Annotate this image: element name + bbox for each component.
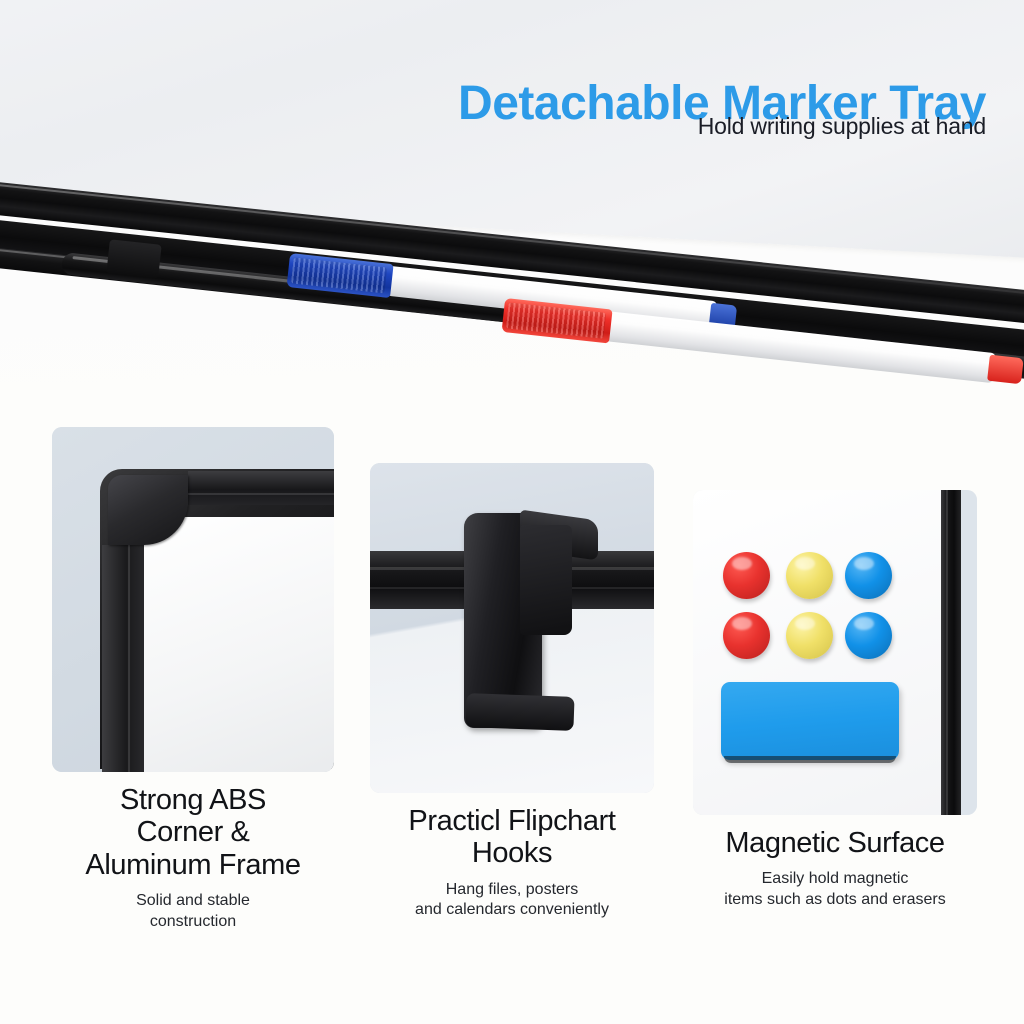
frame-rail-horizontal bbox=[188, 471, 334, 505]
feature-title-line: Corner & bbox=[52, 816, 334, 848]
feature-title-line: Practicl Flipchart bbox=[370, 805, 654, 837]
feature-subtitle-line: Hang files, posters bbox=[370, 880, 654, 900]
feature-subtitle: Easily hold magnetic items such as dots … bbox=[693, 869, 977, 910]
feature-title-line: Strong ABS bbox=[52, 784, 334, 816]
feature-title-line: Hooks bbox=[370, 837, 654, 869]
flipchart-hook-face bbox=[520, 525, 572, 635]
magnetic-eraser bbox=[721, 682, 899, 760]
feature-title: Practicl Flipchart Hooks bbox=[370, 805, 654, 870]
feature-flipchart-hooks: Practicl Flipchart Hooks Hang files, pos… bbox=[370, 463, 654, 921]
magnet-dot-blue bbox=[845, 552, 892, 599]
feature-subtitle-line: Easily hold magnetic bbox=[693, 869, 977, 889]
magnet-dot-red bbox=[723, 612, 770, 659]
feature-title: Strong ABS Corner & Aluminum Frame bbox=[52, 784, 334, 881]
figure-abs-corner bbox=[52, 427, 334, 772]
flipchart-hook-base bbox=[465, 693, 574, 731]
tray-clip bbox=[106, 239, 161, 278]
hero-product-image: Detachable Marker Tray Hold writing supp… bbox=[0, 0, 1024, 400]
feature-subtitle: Solid and stable construction bbox=[52, 891, 334, 932]
magnet-dot-yellow bbox=[786, 552, 833, 599]
magnet-dot-yellow bbox=[786, 612, 833, 659]
marker-cap-ribs bbox=[506, 302, 606, 338]
magnet-dot-red bbox=[723, 552, 770, 599]
feature-magnetic-surface: Magnetic Surface Easily hold magnetic it… bbox=[693, 490, 977, 910]
feature-title-line: Magnetic Surface bbox=[693, 827, 977, 859]
feature-subtitle-line: construction bbox=[52, 912, 334, 932]
frame-side-rail bbox=[941, 490, 961, 815]
feature-abs-corner: Strong ABS Corner & Aluminum Frame Solid… bbox=[52, 427, 334, 932]
feature-title-line: Aluminum Frame bbox=[52, 849, 334, 881]
feature-title: Magnetic Surface bbox=[693, 827, 977, 859]
infographic-page: Detachable Marker Tray Hold writing supp… bbox=[0, 0, 1024, 1024]
figure-flipchart-hook bbox=[370, 463, 654, 793]
figure-magnetic-surface bbox=[693, 490, 977, 815]
magnet-dot-blue bbox=[845, 612, 892, 659]
feature-subtitle-line: and calendars conveniently bbox=[370, 900, 654, 920]
feature-subtitle: Hang files, posters and calendars conven… bbox=[370, 880, 654, 921]
marker-cap-ribs bbox=[291, 257, 387, 293]
feature-subtitle-line: items such as dots and erasers bbox=[693, 890, 977, 910]
frame-rail-vertical bbox=[102, 545, 146, 772]
page-subtitle: Hold writing supplies at hand bbox=[698, 113, 986, 140]
marker-tail-red bbox=[987, 355, 1024, 385]
whiteboard-panel bbox=[144, 517, 334, 772]
figure-right-fill bbox=[961, 490, 977, 815]
feature-subtitle-line: Solid and stable bbox=[52, 891, 334, 911]
